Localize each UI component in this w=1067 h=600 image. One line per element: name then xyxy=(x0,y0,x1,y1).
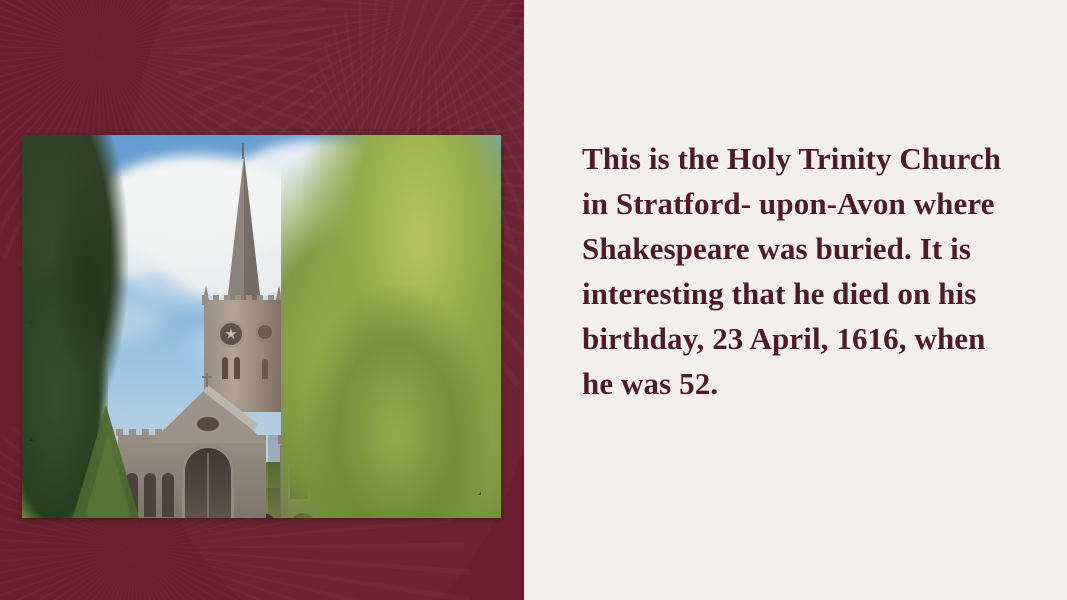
window-tracery xyxy=(207,453,209,518)
conifer-tree xyxy=(74,435,142,518)
tower-window xyxy=(234,357,240,379)
church-photo-canvas xyxy=(22,135,501,518)
left-maroon-panel xyxy=(0,0,524,600)
body-paragraph: This is the Holy Trinity Church in Strat… xyxy=(582,136,1022,406)
text-pane: This is the Holy Trinity Church in Strat… xyxy=(524,0,1067,600)
slide: This is the Holy Trinity Church in Strat… xyxy=(0,0,1067,600)
gable-oculus-window xyxy=(197,417,219,431)
spire-shadow xyxy=(244,155,261,303)
spire-finial-icon xyxy=(242,143,244,159)
tower-window xyxy=(222,357,228,379)
tree-branches xyxy=(271,265,481,495)
aisle-window xyxy=(162,473,174,517)
church-photo xyxy=(22,135,501,518)
tower-window xyxy=(262,359,268,379)
roof-cross-icon xyxy=(206,373,208,387)
